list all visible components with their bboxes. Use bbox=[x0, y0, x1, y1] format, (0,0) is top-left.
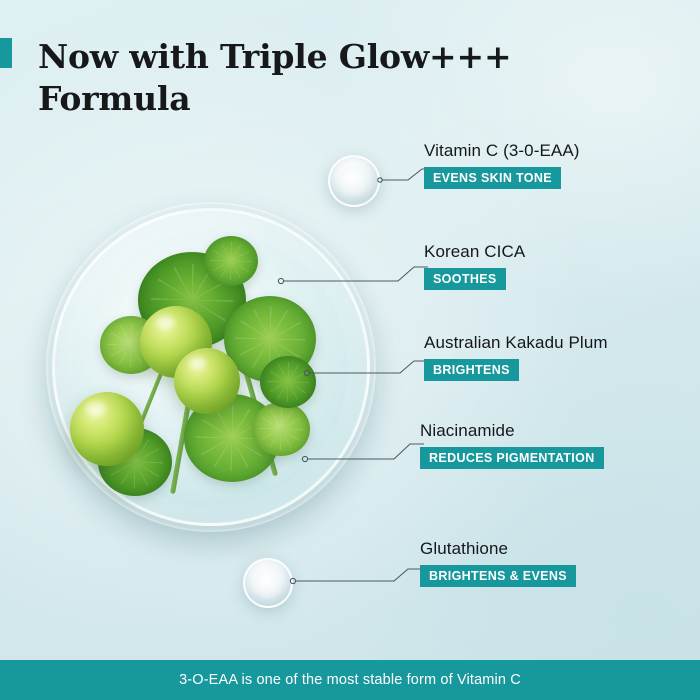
glutathione-powder-sample bbox=[243, 558, 293, 608]
callout-badge: REDUCES PIGMENTATION bbox=[420, 447, 604, 469]
callout-niacinamide: Niacinamide REDUCES PIGMENTATION bbox=[420, 421, 604, 469]
footer-strip: 3-O-EAA is one of the most stable form o… bbox=[0, 660, 700, 700]
callout-badge: BRIGHTENS & EVENS bbox=[420, 565, 576, 587]
vitamin-c-powder-sample bbox=[328, 155, 380, 207]
page-title: Now with Triple Glow+++ Formula bbox=[38, 36, 598, 120]
callout-title: Australian Kakadu Plum bbox=[424, 333, 608, 353]
kakadu-plum-fruit bbox=[70, 392, 144, 466]
product-ingredient-infographic: Now with Triple Glow+++ Formula bbox=[0, 0, 700, 700]
callout-title: Niacinamide bbox=[420, 421, 604, 441]
callout-vitamin-c: Vitamin C (3-0-EAA) EVENS SKIN TONE bbox=[424, 141, 580, 189]
centella-leaf bbox=[252, 402, 310, 456]
centella-leaf bbox=[260, 356, 316, 408]
callout-title: Vitamin C (3-0-EAA) bbox=[424, 141, 580, 161]
petri-dish-composition bbox=[46, 196, 386, 546]
leader-line-glutathione bbox=[290, 565, 420, 585]
kakadu-plum-fruit bbox=[174, 348, 240, 414]
callout-title: Korean CICA bbox=[424, 242, 525, 262]
callout-title: Glutathione bbox=[420, 539, 576, 559]
callout-badge: BRIGHTENS bbox=[424, 359, 519, 381]
callout-badge: SOOTHES bbox=[424, 268, 506, 290]
callout-badge: EVENS SKIN TONE bbox=[424, 167, 561, 189]
footer-text: 3-O-EAA is one of the most stable form o… bbox=[179, 672, 521, 688]
callout-kakadu-plum: Australian Kakadu Plum BRIGHTENS bbox=[424, 333, 608, 381]
headline-accent-bar bbox=[0, 38, 12, 68]
centella-leaf bbox=[204, 236, 258, 286]
callout-korean-cica: Korean CICA SOOTHES bbox=[424, 242, 525, 290]
leader-line-vitamin-c bbox=[378, 166, 428, 184]
callout-glutathione: Glutathione BRIGHTENS & EVENS bbox=[420, 539, 576, 587]
